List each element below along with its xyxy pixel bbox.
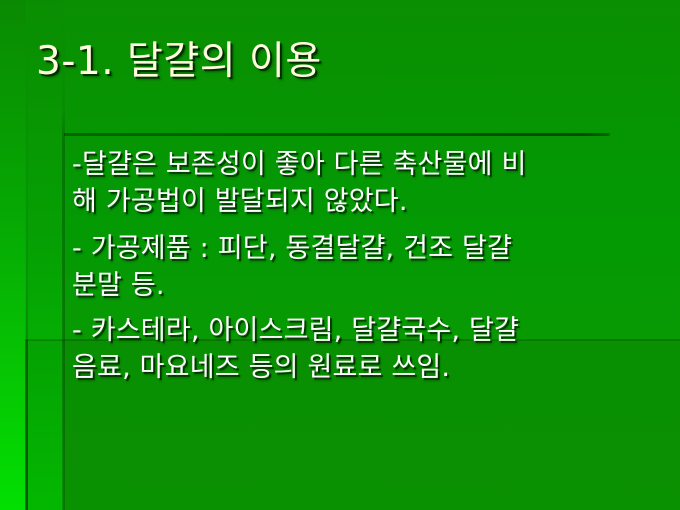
presentation-slide: 3-1. 달걀의 이용 -달걀은 보존성이 좋아 다른 축산물에 비 해 가공법… bbox=[0, 0, 680, 510]
slide-title: 3-1. 달걀의 이용 bbox=[36, 40, 636, 85]
title-divider-rule bbox=[64, 133, 610, 136]
bullet-item: - 가공제품 : 피단, 동결달걀, 건조 달걀 분말 등. bbox=[72, 230, 672, 304]
bullet-item: - 카스테라, 아이스크림, 달걀국수, 달걀 음료, 마요네즈 등의 원료로 … bbox=[72, 312, 672, 386]
bullet-item: -달걀은 보존성이 좋아 다른 축산물에 비 해 가공법이 발달되지 않았다. bbox=[72, 146, 672, 220]
slide-body: -달걀은 보존성이 좋아 다른 축산물에 비 해 가공법이 발달되지 않았다. … bbox=[72, 146, 672, 386]
background-left-bright-band bbox=[0, 0, 26, 510]
background-lower-panel-left-edge bbox=[25, 340, 28, 510]
